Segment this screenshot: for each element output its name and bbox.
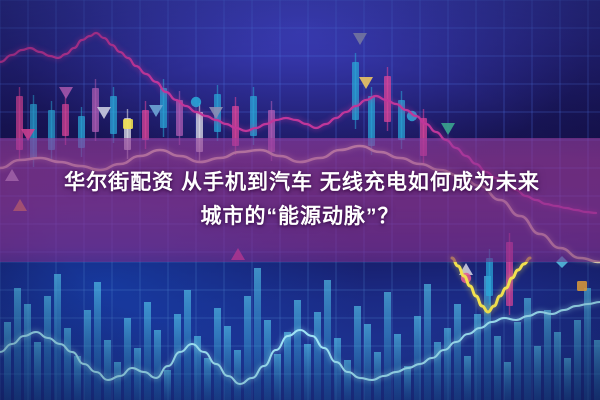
headline-line-1: 华尔街配资 从手机到汽车 无线充电如何成为未来 xyxy=(60,168,540,198)
cover-image-canvas: 华尔街配资 从手机到汽车 无线充电如何成为未来 城市的“能源动脉”？ xyxy=(0,0,600,400)
headline-line-2: 城市的“能源动脉”？ xyxy=(201,202,400,232)
headline-block: 华尔街配资 从手机到汽车 无线充电如何成为未来 城市的“能源动脉”？ xyxy=(0,138,600,262)
